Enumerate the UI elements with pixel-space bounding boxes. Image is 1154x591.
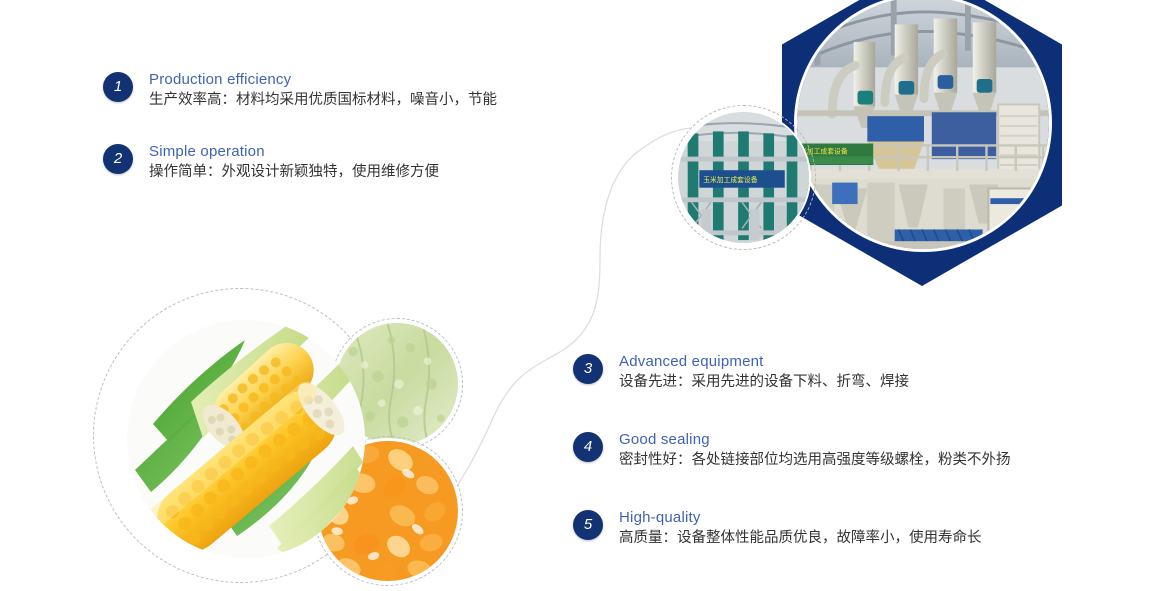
feature-badge-4: 4: [573, 432, 603, 462]
feature-desc-3: 设备先进：采用先进的设备下料、折弯、焊接: [619, 371, 1093, 393]
feature-desc-2: 操作简单：外观设计新颖独特，使用维修方便: [149, 161, 573, 183]
feature-item-3[interactable]: 3 Advanced equipment 设备先进：采用先进的设备下料、折弯、焊…: [573, 352, 1093, 398]
feature-item-5[interactable]: 5 High-quality 高质量：设备整体性能品质优良，故障率小，使用寿命长: [573, 508, 1093, 554]
feature-badge-5: 5: [573, 510, 603, 540]
feature-text-3: Advanced equipment 设备先进：采用先进的设备下料、折弯、焊接: [619, 352, 1093, 393]
feature-desc-1: 生产效率高：材料均采用优质国标材料，噪音小，节能: [149, 89, 573, 111]
teal-media-block: 玉米加工成套设备: [671, 105, 816, 250]
feature-text-5: High-quality 高质量：设备整体性能品质优良，故障率小，使用寿命长: [619, 508, 1093, 549]
feature-badge-1: 1: [103, 72, 133, 102]
hexagon-photo: 玉米加工成套设备: [794, 0, 1052, 252]
feature-title-5: High-quality: [619, 508, 1093, 527]
corn-cob-photo: [127, 320, 365, 558]
feature-title-4: Good sealing: [619, 430, 1093, 449]
feature-title-1: Production efficiency: [149, 70, 573, 89]
teal-photo: 玉米加工成套设备: [676, 110, 811, 245]
feature-title-3: Advanced equipment: [619, 352, 1093, 371]
feature-text-2: Simple operation 操作简单：外观设计新颖独特，使用维修方便: [149, 142, 573, 183]
feature-item-1[interactable]: 1 Production efficiency 生产效率高：材料均采用优质国标材…: [103, 70, 573, 116]
svg-text:玉米加工成套设备: 玉米加工成套设备: [703, 175, 757, 184]
feature-desc-4: 密封性好：各处链接部位均选用高强度等级螺栓，粉类不外扬: [619, 449, 1093, 471]
infographic-stage: 玉米加工成套设备: [0, 0, 1154, 591]
feature-badge-2: 2: [103, 144, 133, 174]
feature-group-top: 1 Production efficiency 生产效率高：材料均采用优质国标材…: [103, 70, 573, 214]
feature-group-bottom: 3 Advanced equipment 设备先进：采用先进的设备下料、折弯、焊…: [573, 352, 1093, 586]
feature-item-4[interactable]: 4 Good sealing 密封性好：各处链接部位均选用高强度等级螺栓，粉类不…: [573, 430, 1093, 476]
feature-item-2[interactable]: 2 Simple operation 操作简单：外观设计新颖独特，使用维修方便: [103, 142, 573, 188]
corn-media-cluster: [93, 282, 473, 591]
hexagon-media-block: 玉米加工成套设备: [782, 0, 1082, 286]
feature-text-1: Production efficiency 生产效率高：材料均采用优质国标材料，…: [149, 70, 573, 111]
feature-title-2: Simple operation: [149, 142, 573, 161]
feature-text-4: Good sealing 密封性好：各处链接部位均选用高强度等级螺栓，粉类不外扬: [619, 430, 1093, 471]
feature-desc-5: 高质量：设备整体性能品质优良，故障率小，使用寿命长: [619, 527, 1093, 549]
feature-badge-3: 3: [573, 354, 603, 384]
